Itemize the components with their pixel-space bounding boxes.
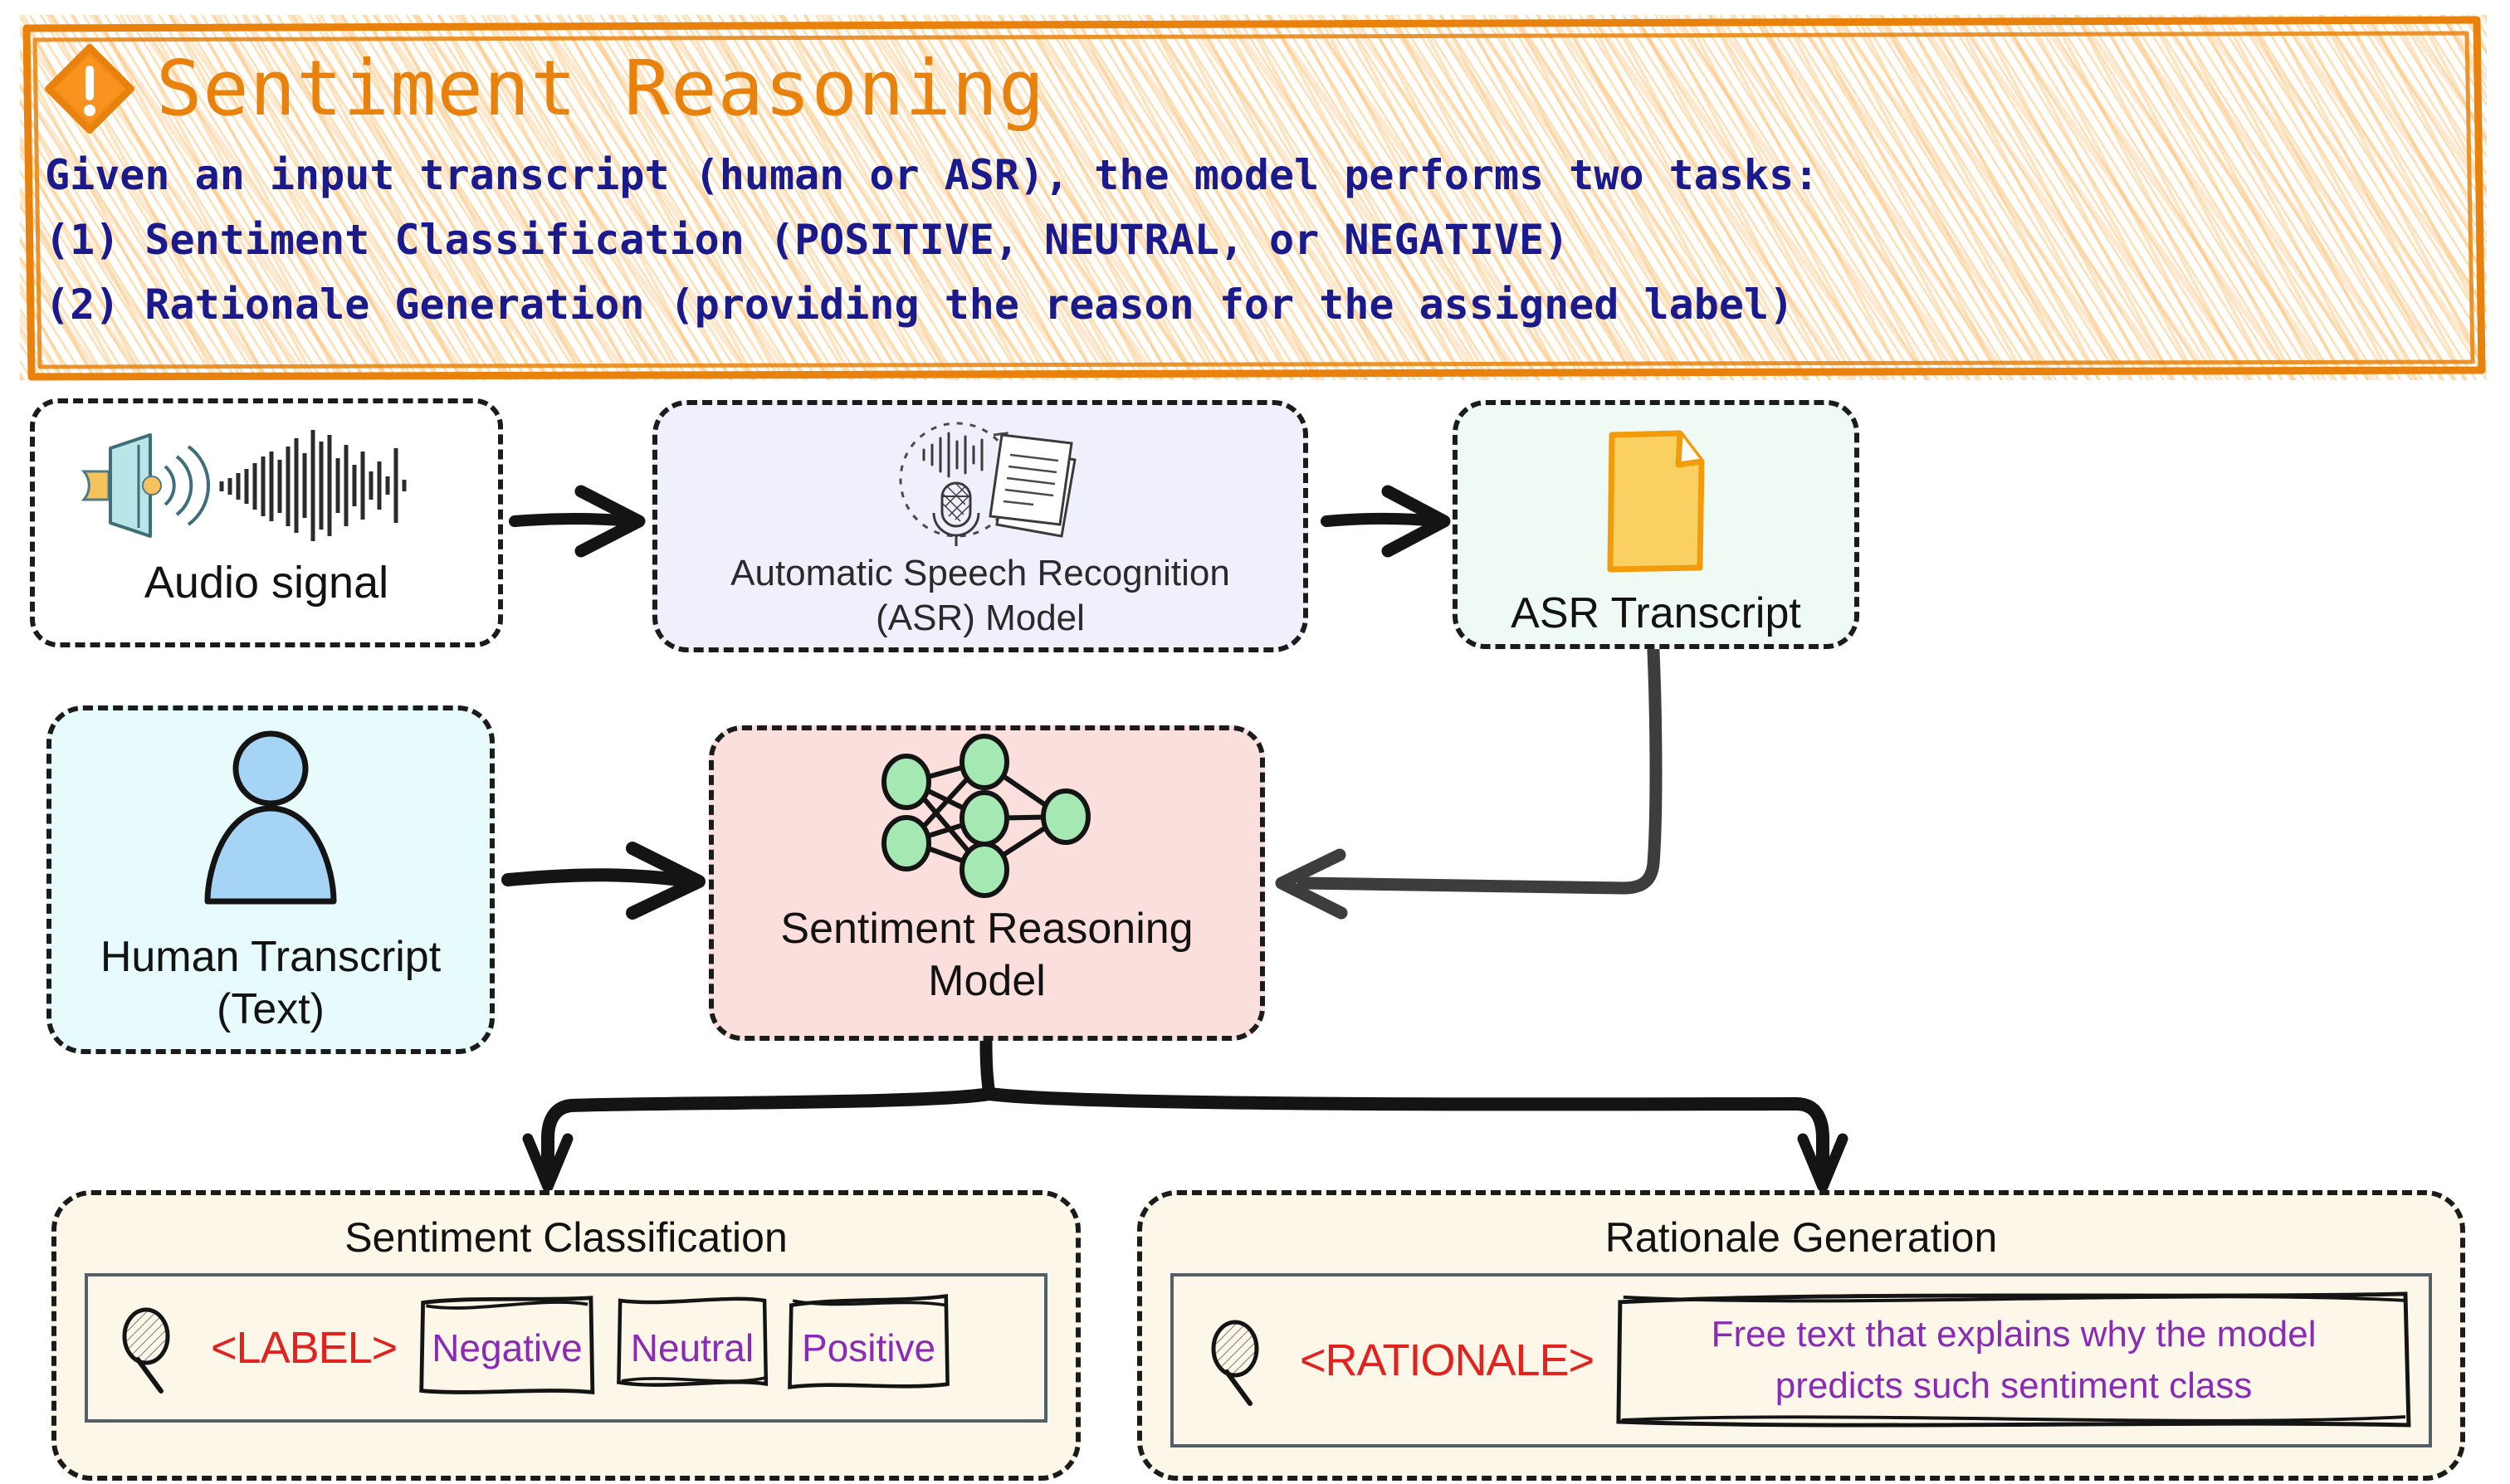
option-positive[interactable]: Positive — [789, 1298, 949, 1398]
node-label-audio-signal: Audio signal — [144, 556, 388, 611]
node-label-asr-model-line1: Automatic Speech Recognition — [730, 551, 1230, 596]
node-label-asr-model-line2: (ASR) Model — [876, 596, 1085, 641]
warning-diamond-icon — [45, 44, 134, 134]
node-label-human-transcript-line1: Human Transcript — [100, 931, 441, 984]
arrow-model-branch — [528, 1042, 1843, 1187]
rationale-free-text-box[interactable]: Free text that explains why the model pr… — [1615, 1294, 2412, 1427]
node-label-model-line1: Sentiment Reasoning — [780, 903, 1193, 955]
node-label-asr-transcript: ASR Transcript — [1511, 588, 1801, 640]
node-asr-model[interactable]: Automatic Speech Recognition (ASR) Model — [652, 400, 1308, 652]
description-line-3: (2) Rationale Generation (providing the … — [45, 277, 2465, 342]
option-neutral[interactable]: Neutral — [618, 1298, 767, 1398]
microphone-document-icon — [864, 413, 1096, 546]
node-asr-transcript[interactable]: ASR Transcript — [1453, 400, 1859, 649]
rationale-field-row: <RATIONALE> Free text that explains why … — [1170, 1273, 2432, 1447]
rationale-text-line2: predicts such sentiment class — [1775, 1365, 2253, 1406]
rationale-tag: <RATIONALE> — [1300, 1335, 1594, 1386]
node-label-human-transcript-line2: (Text) — [217, 984, 325, 1036]
arrow-transcript-to-model — [1282, 651, 1656, 913]
node-sentiment-reasoning-model[interactable]: Sentiment Reasoning Model — [709, 725, 1265, 1041]
arrow-asr-to-transcript — [1326, 491, 1444, 551]
description-line-2: (1) Sentiment Classification (POSITIVE, … — [45, 212, 2465, 277]
header-banner: Sentiment Reasoning Given an input trans… — [20, 15, 2487, 380]
node-audio-signal[interactable]: Audio signal — [30, 398, 503, 647]
panel-rationale-generation[interactable]: Rationale Generation <RATIONALE> — [1137, 1190, 2465, 1481]
page-title: Sentiment Reasoning — [156, 51, 1045, 127]
arrow-audio-to-asr — [515, 491, 639, 551]
speaker-waveform-icon — [59, 423, 474, 548]
rationale-text-line1: Free text that explains why the model — [1712, 1314, 2317, 1355]
node-human-transcript[interactable]: Human Transcript (Text) — [46, 705, 495, 1054]
neural-network-icon — [867, 744, 1107, 893]
magnifier-icon — [1202, 1311, 1278, 1410]
magnifier-icon — [113, 1298, 189, 1398]
panel-sentiment-classification[interactable]: Sentiment Classification <LABEL> — [51, 1190, 1081, 1481]
option-label-negative: Negative — [432, 1325, 583, 1370]
document-icon — [1594, 427, 1718, 576]
node-label-model-line2: Model — [928, 955, 1046, 1008]
option-label-positive: Positive — [802, 1325, 935, 1370]
option-negative[interactable]: Negative — [418, 1298, 596, 1398]
classification-field-row: <LABEL> Negative Neutral — [85, 1273, 1047, 1423]
person-icon — [188, 729, 354, 920]
panel-title-rationale: Rationale Generation — [1605, 1213, 1998, 1262]
classification-tag: <LABEL> — [211, 1322, 397, 1374]
panel-title-classification: Sentiment Classification — [344, 1213, 788, 1262]
option-label-neutral: Neutral — [631, 1325, 754, 1370]
arrow-human-to-model — [508, 848, 699, 913]
diagram-canvas: Sentiment Reasoning Given an input trans… — [0, 0, 2510, 1484]
header-description: Given an input transcript (human or ASR)… — [45, 148, 2465, 342]
description-line-1: Given an input transcript (human or ASR)… — [45, 148, 2465, 212]
